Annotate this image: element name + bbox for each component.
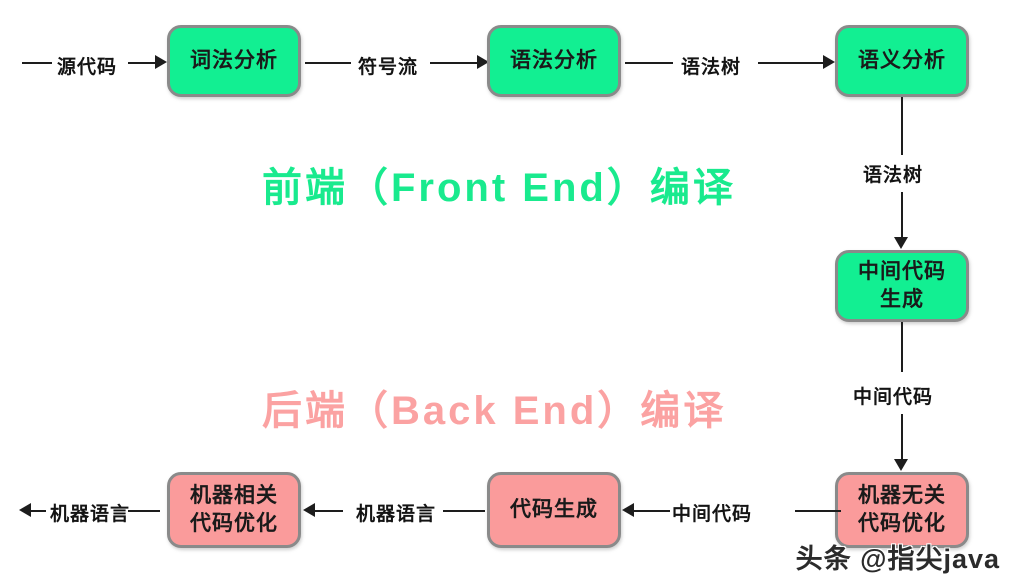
diagram-canvas: 源代码 词法分析 符号流 语法分析 语法树 语义分析 前端（Front End）… — [0, 0, 1014, 582]
edge-tree-to-irgen-vertical — [901, 192, 903, 238]
edge-label-machine-language-out: 机器语言 — [50, 499, 130, 526]
node-code-generation-label: 代码生成 — [506, 496, 602, 524]
edge-label-machine-language-mid: 机器语言 — [356, 499, 436, 526]
edge-label-syntax-tree-vertical: 语法树 — [863, 160, 923, 187]
node-code-generation[interactable]: 代码生成 — [487, 472, 621, 548]
arrowhead-machine-lang-to-dep — [303, 503, 315, 517]
caption-back-end: 后端（Back End）编译 — [262, 378, 726, 436]
node-semantic-analysis[interactable]: 语义分析 — [835, 25, 969, 97]
node-machine-independent-optimization-label: 机器无关 代码优化 — [854, 482, 950, 537]
arrowhead-ir-to-codegen — [622, 503, 634, 517]
node-lexical-analysis-label: 词法分析 — [186, 47, 282, 75]
watermark: 头条 @指尖java — [796, 537, 1000, 576]
edge-label-source-code: 源代码 — [57, 52, 117, 79]
edge-machine-lang-to-dep — [315, 510, 343, 512]
arrowhead-ir-to-indep — [894, 459, 908, 471]
edge-output-stub — [30, 510, 46, 512]
edge-label-syntax-tree-top: 语法树 — [681, 52, 741, 79]
node-lexical-analysis[interactable]: 词法分析 — [167, 25, 301, 97]
edge-label-token-stream: 符号流 — [358, 52, 418, 79]
arrowhead-source-to-lexical — [155, 55, 167, 69]
caption-front-end: 前端（Front End）编译 — [262, 155, 736, 213]
edge-semantic-to-tree-vertical — [901, 97, 903, 155]
edge-label-intermediate-code-bottom: 中间代码 — [672, 499, 752, 526]
node-syntax-analysis[interactable]: 语法分析 — [487, 25, 621, 97]
edge-codegen-to-machine-lang — [443, 510, 485, 512]
edge-stub-start — [22, 62, 52, 64]
node-intermediate-code-generation[interactable]: 中间代码 生成 — [835, 250, 969, 322]
edge-tree-to-semantic — [758, 62, 826, 64]
arrowhead-tree-to-semantic — [823, 55, 835, 69]
node-machine-dependent-optimization-label: 机器相关 代码优化 — [186, 482, 282, 537]
node-machine-dependent-optimization[interactable]: 机器相关 代码优化 — [167, 472, 301, 548]
edge-ir-to-codegen — [634, 510, 670, 512]
node-semantic-analysis-label: 语义分析 — [854, 47, 950, 75]
arrowhead-tree-to-irgen — [894, 237, 908, 249]
edge-irgen-to-ir-vertical — [901, 322, 903, 372]
edge-label-intermediate-code-vertical: 中间代码 — [853, 382, 933, 409]
edge-token-to-syntax — [430, 62, 478, 64]
edge-source-to-lexical — [128, 62, 156, 64]
edge-indep-to-ir-bottom — [795, 510, 841, 512]
edge-ir-to-indep-vertical — [901, 414, 903, 460]
node-intermediate-code-generation-label: 中间代码 生成 — [854, 258, 950, 313]
edge-lexical-to-token — [305, 62, 351, 64]
edge-syntax-to-tree — [625, 62, 673, 64]
arrowhead-output — [19, 503, 31, 517]
edge-dep-to-output — [128, 510, 160, 512]
node-syntax-analysis-label: 语法分析 — [506, 47, 602, 75]
